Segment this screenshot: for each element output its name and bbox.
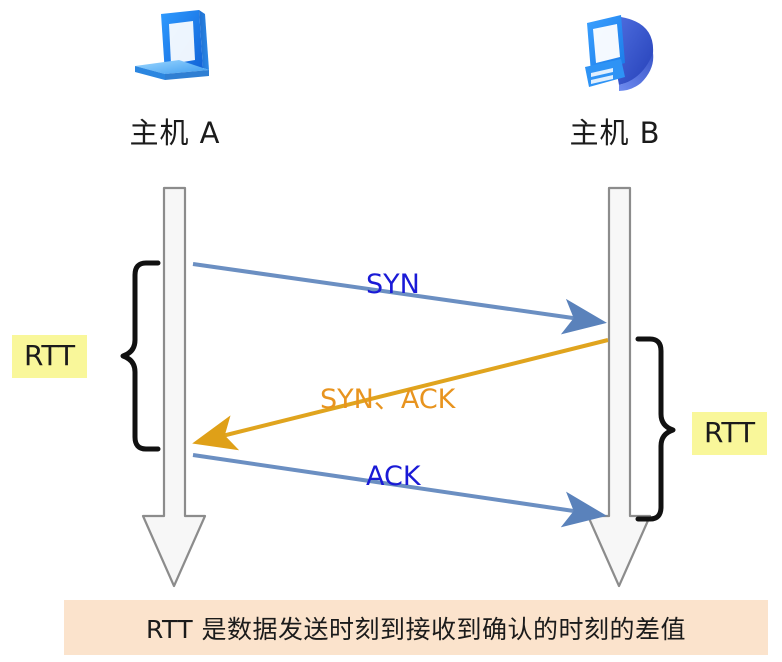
message-label-syn-ack: SYN、ACK [320, 377, 455, 416]
rtt-left-brace [118, 258, 162, 454]
message-label-ack: ACK [366, 461, 421, 492]
host-a-label: 主机 A [65, 110, 285, 152]
message-label-syn: SYN [366, 269, 420, 300]
rtt-right-brace [634, 334, 678, 524]
caption-box: RTT 是数据发送时刻到接收到确认的时刻的差值 [64, 600, 768, 655]
desktop-computer-icon [563, 5, 673, 101]
host-b-label: 主机 B [505, 110, 725, 152]
diagram-canvas: 主机 A [0, 0, 782, 662]
rtt-right-label: RTT [692, 412, 767, 455]
caption-text: RTT 是数据发送时刻到接收到确认的时刻的差值 [146, 610, 686, 646]
laptop-icon [123, 8, 233, 104]
rtt-left-label: RTT [12, 335, 87, 378]
